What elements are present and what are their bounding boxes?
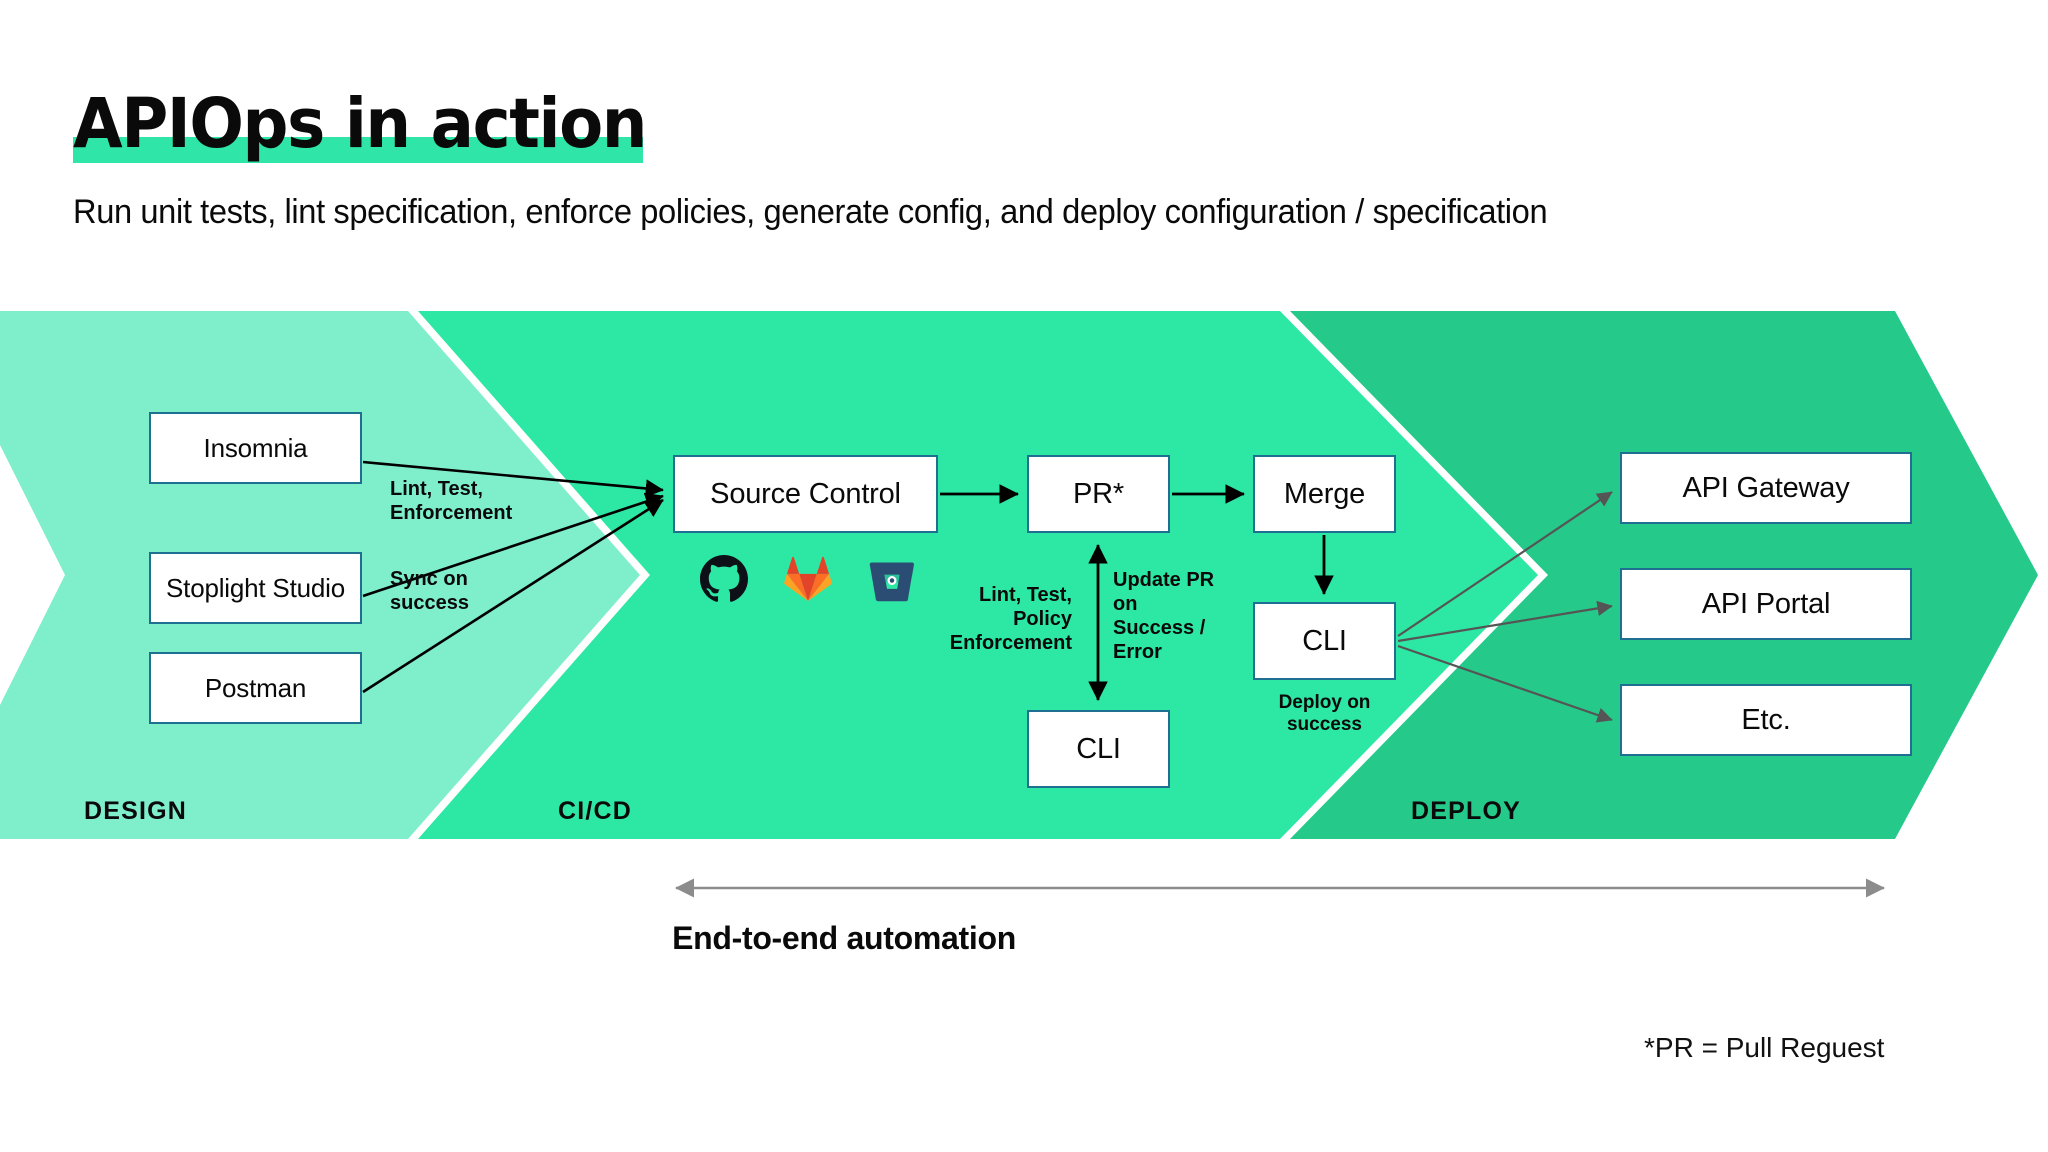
github-icon bbox=[700, 555, 748, 603]
edge-label-lint-test-policy-enforcement: Lint, Test, Policy Enforcement bbox=[942, 583, 1072, 655]
automation-caption-row: End-to-end automation bbox=[0, 920, 2048, 957]
edge-label-lint-test-enforcement: Lint, Test, Enforcement bbox=[390, 477, 512, 525]
node-api-gateway[interactable]: API Gateway bbox=[1620, 452, 1912, 524]
node-pull-request[interactable]: PR* bbox=[1027, 455, 1170, 533]
edge-label-deploy-on-success: Deploy on success bbox=[1253, 692, 1396, 736]
page-title-wrapper: APIOps in action bbox=[73, 88, 689, 166]
edge-label-sync-on-success: Sync on success bbox=[390, 567, 469, 615]
bitbucket-icon bbox=[868, 555, 916, 603]
node-source-control[interactable]: Source Control bbox=[673, 455, 938, 533]
connector-cli-to-targets bbox=[1398, 492, 1612, 720]
node-merge[interactable]: Merge bbox=[1253, 455, 1396, 533]
stage-label-deploy: DEPLOY bbox=[1411, 797, 1521, 826]
page-title: APIOps in action bbox=[73, 88, 646, 160]
automation-caption: End-to-end automation bbox=[672, 920, 1016, 957]
node-stoplight-studio[interactable]: Stoplight Studio bbox=[149, 552, 362, 624]
node-cli-deploy[interactable]: CLI bbox=[1253, 602, 1396, 680]
node-etc[interactable]: Etc. bbox=[1620, 684, 1912, 756]
band-cicd bbox=[418, 311, 1538, 839]
node-postman[interactable]: Postman bbox=[149, 652, 362, 724]
node-api-portal[interactable]: API Portal bbox=[1620, 568, 1912, 640]
stage-label-design: DESIGN bbox=[84, 797, 187, 826]
edge-label-update-pr: Update PR on Success / Error bbox=[1113, 568, 1233, 664]
gitlab-icon bbox=[784, 555, 832, 603]
node-insomnia[interactable]: Insomnia bbox=[149, 412, 362, 484]
stage-label-cicd: CI/CD bbox=[558, 797, 632, 826]
footnote-pr-definition: *PR = Pull Reguest bbox=[1644, 1032, 1884, 1064]
source-control-logo-group bbox=[700, 555, 916, 603]
page-subtitle: Run unit tests, lint specification, enfo… bbox=[73, 193, 1547, 232]
node-cli-ci[interactable]: CLI bbox=[1027, 710, 1170, 788]
header: APIOps in action Run unit tests, lint sp… bbox=[0, 0, 2048, 300]
